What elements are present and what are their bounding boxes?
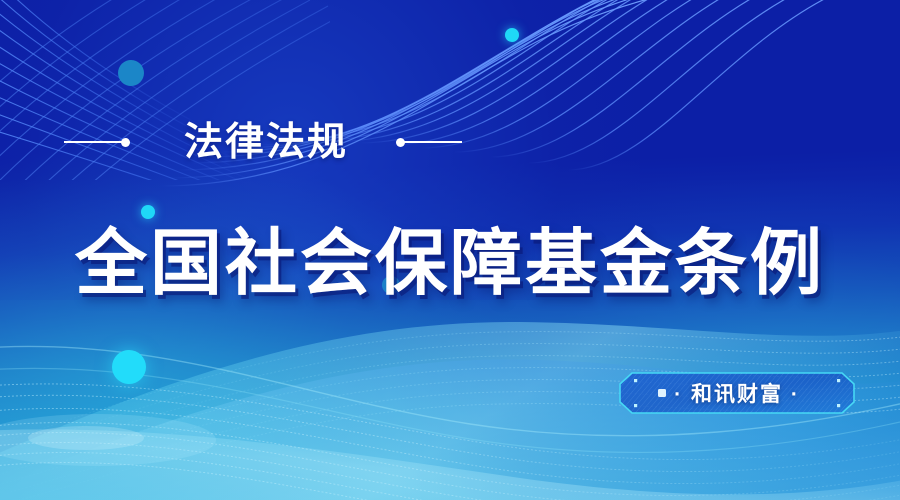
brand-badge[interactable]: · 和讯财富 · <box>618 371 856 415</box>
circle-bottom-left-icon <box>112 350 146 384</box>
promo-banner: 法律法规 全国社会保障基金条例 <box>0 0 900 500</box>
brand-badge-label: · 和讯财富 · <box>618 371 856 415</box>
banner-title: 全国社会保障基金条例 <box>0 228 900 300</box>
circle-mid-left-icon <box>141 205 155 219</box>
subtitle-rule-left-icon <box>64 138 130 147</box>
banner-subtitle: 法律法规 <box>184 123 348 162</box>
circle-top-left-icon <box>118 60 144 86</box>
circle-top-center-icon <box>505 28 519 42</box>
subtitle-row: 法律法规 <box>64 118 462 166</box>
subtitle-rule-right-icon <box>396 138 462 147</box>
